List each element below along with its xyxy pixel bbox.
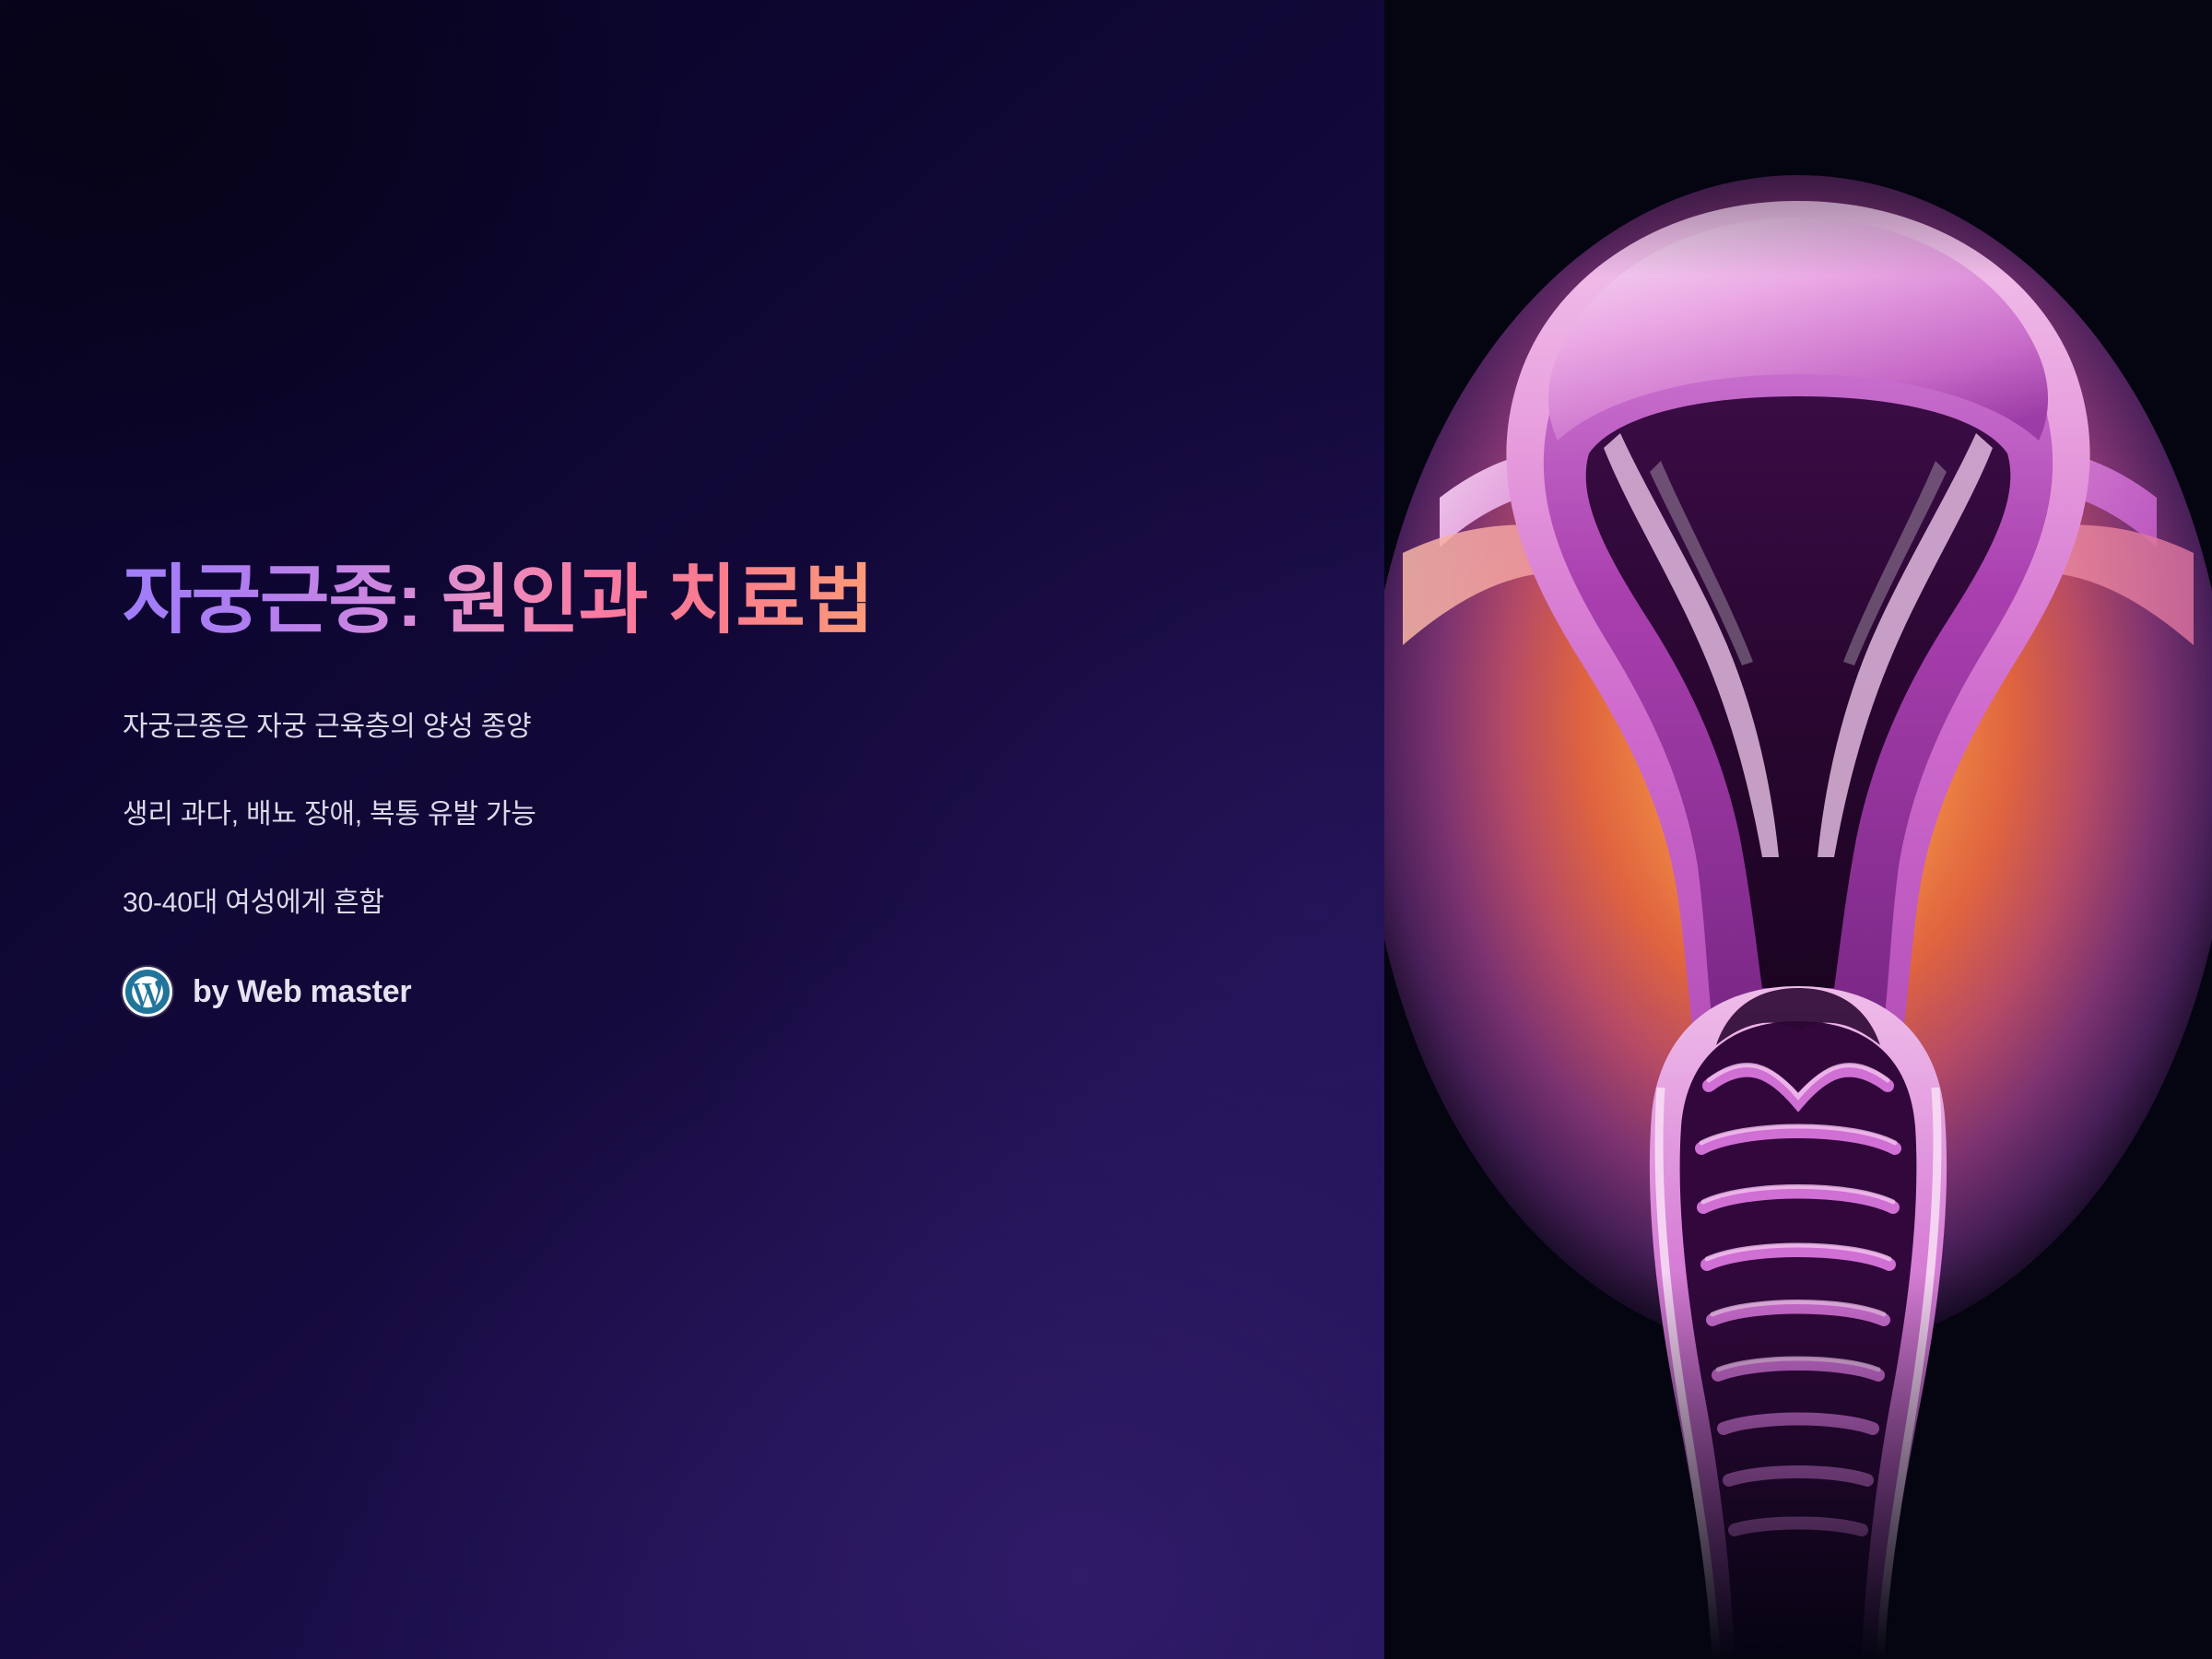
bullet-item-1: 자궁근종은 자궁 근육층의 양성 종양 bbox=[123, 707, 1182, 747]
bottom-vignette bbox=[1384, 1272, 2212, 1659]
author-byline: by Web master bbox=[123, 967, 1182, 1017]
bullet-item-3: 30-40대 여성에게 흔함 bbox=[123, 883, 1182, 924]
slide-title: 자궁근종: 원인과 치료법 bbox=[123, 557, 1182, 652]
wordpress-icon bbox=[123, 967, 172, 1017]
byline-label: by Web master bbox=[193, 974, 411, 1010]
bullet-item-2: 생리 과다, 배뇨 장애, 복통 유발 가능 bbox=[123, 794, 1182, 835]
bullet-list: 자궁근종은 자궁 근육층의 양성 종양 생리 과다, 배뇨 장애, 복통 유발 … bbox=[123, 707, 1182, 924]
slide-content: 자궁근종: 원인과 치료법 자궁근종은 자궁 근육층의 양성 종양 생리 과다,… bbox=[123, 557, 1182, 1017]
uterus-anatomy-illustration bbox=[1384, 0, 2212, 1659]
presentation-slide: 자궁근종: 원인과 치료법 자궁근종은 자궁 근육층의 양성 종양 생리 과다,… bbox=[0, 0, 2212, 1659]
top-vignette bbox=[1384, 0, 2212, 276]
left-text-panel: 자궁근종: 원인과 치료법 자궁근종은 자궁 근육층의 양성 종양 생리 과다,… bbox=[0, 0, 1384, 1659]
uterus-illustration-panel bbox=[1384, 0, 2212, 1659]
